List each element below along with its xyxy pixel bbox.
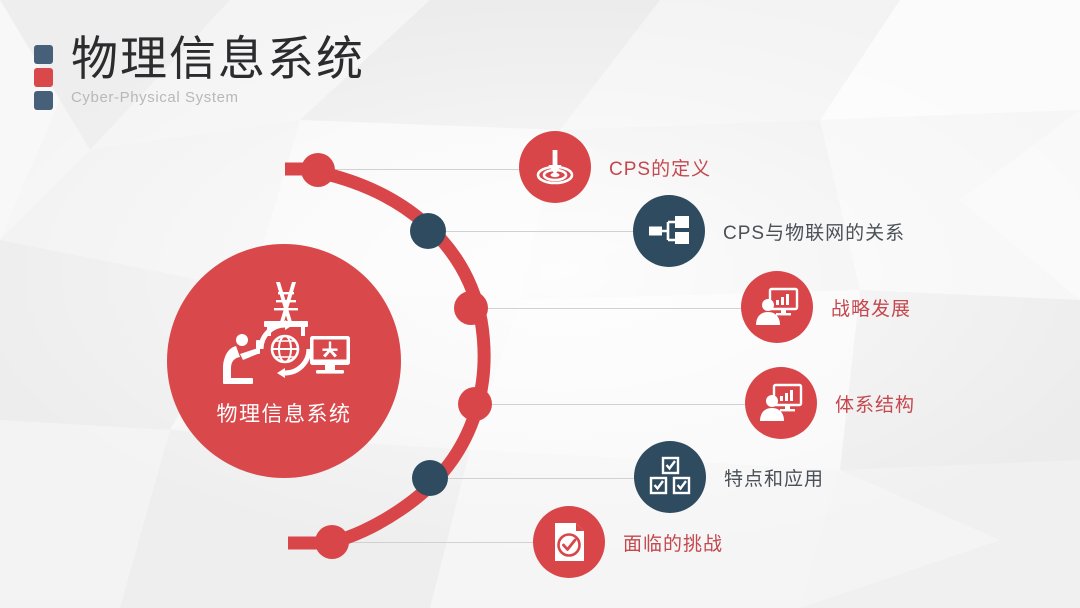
topic-item-system-architecture[interactable]: 体系结构	[745, 367, 915, 439]
slide-root: 物理信息系统 Cyber-Physical System	[0, 0, 1080, 608]
worker-icon	[223, 334, 260, 384]
checkbox-blocks-icon	[647, 454, 693, 500]
topic-label-cps-definition: CPS的定义	[609, 154, 711, 181]
topic-bubble-challenges-faced[interactable]	[533, 506, 605, 578]
arc-node-5[interactable]	[412, 460, 448, 496]
topic-bubble-strategic-development[interactable]	[741, 271, 813, 343]
topic-item-cps-iot-relationship[interactable]: CPS与物联网的关系	[633, 195, 905, 267]
arc-node-3[interactable]	[454, 291, 488, 325]
topic-label-cps-iot-relationship: CPS与物联网的关系	[723, 218, 905, 245]
network-nodes-icon	[646, 208, 692, 254]
target-arrow-icon	[532, 144, 578, 190]
topic-item-cps-definition[interactable]: CPS的定义	[519, 131, 711, 203]
hub-circle[interactable]: 物理信息系统	[167, 244, 401, 478]
arc-node-4[interactable]	[458, 387, 492, 421]
topic-item-challenges-faced[interactable]: 面临的挑战	[533, 506, 723, 578]
arc-node-1[interactable]	[301, 153, 335, 187]
person-monitor-chart-icon	[758, 380, 804, 426]
person-monitor-chart-icon	[754, 284, 800, 330]
arc-node-6[interactable]	[315, 525, 349, 559]
topic-bubble-system-architecture[interactable]	[745, 367, 817, 439]
hub-label: 物理信息系统	[217, 398, 352, 428]
topic-bubble-cps-iot-relationship[interactable]	[633, 195, 705, 267]
topic-bubble-features-and-applications[interactable]	[634, 441, 706, 513]
topic-label-strategic-development: 战略发展	[831, 294, 911, 321]
industrial-iot-icon	[214, 278, 354, 388]
topic-label-system-architecture: 体系结构	[835, 390, 915, 417]
topic-item-features-and-applications[interactable]: 特点和应用	[634, 441, 824, 513]
document-check-icon	[546, 519, 592, 565]
monitor-icon	[310, 336, 350, 374]
topic-label-challenges-faced: 面临的挑战	[623, 529, 723, 556]
arc-node-2[interactable]	[410, 213, 446, 249]
topic-label-features-and-applications: 特点和应用	[724, 464, 824, 491]
topic-bubble-cps-definition[interactable]	[519, 131, 591, 203]
topic-item-strategic-development[interactable]: 战略发展	[741, 271, 911, 343]
